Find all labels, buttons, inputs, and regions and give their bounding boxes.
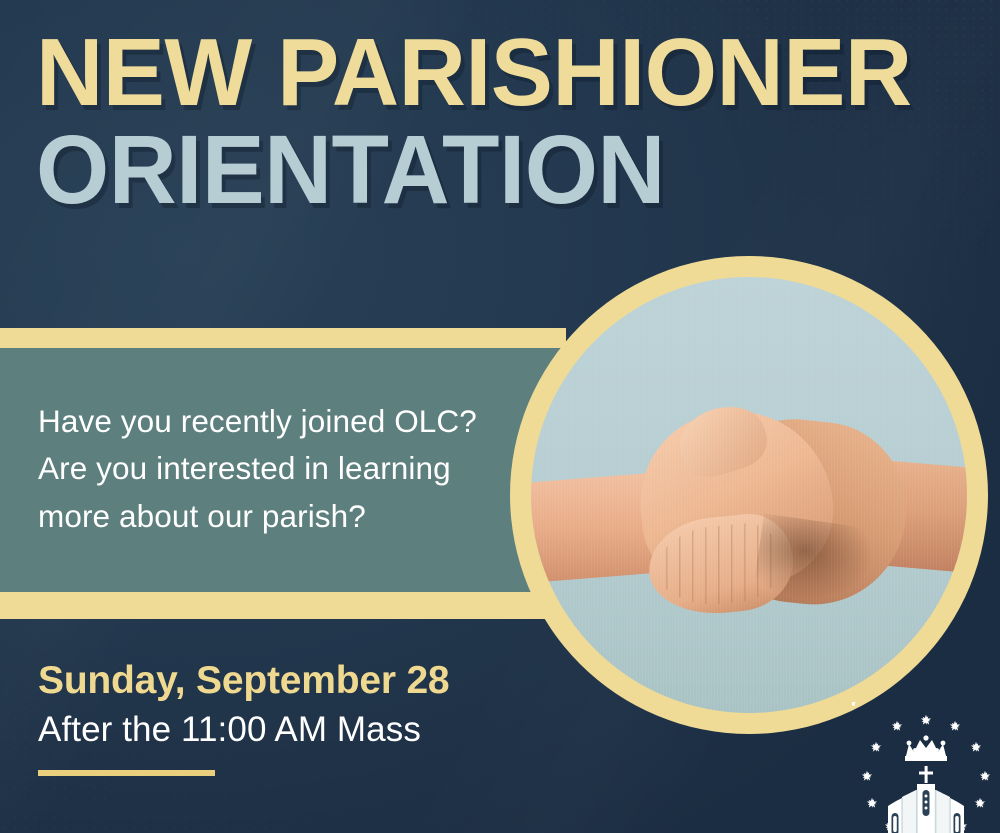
body-text-line-3: more about our parish? <box>38 493 526 540</box>
page-title: NEW PARISHIONER ORIENTATION <box>36 28 976 215</box>
event-details: Sunday, September 28 After the 11:00 AM … <box>38 660 449 776</box>
body-text-line-1: Have you recently joined OLC? <box>38 398 526 445</box>
headline-line-1: NEW PARISHIONER <box>36 28 948 118</box>
body-panel: Have you recently joined OLC? Are you in… <box>0 328 566 619</box>
event-time: After the 11:00 AM Mass <box>38 711 449 750</box>
handshake-photo-circle <box>510 256 988 734</box>
body-text-line-2: Are you interested in learning <box>38 445 526 492</box>
handshake-photo <box>531 277 967 713</box>
panel-bar-top <box>0 328 566 348</box>
poster-canvas: NEW PARISHIONER ORIENTATION Have you rec… <box>0 0 1000 833</box>
panel-body: Have you recently joined OLC? Are you in… <box>0 348 566 592</box>
panel-bar-bottom <box>0 592 566 619</box>
hand-shadow <box>753 514 876 607</box>
event-date: Sunday, September 28 <box>38 660 449 702</box>
handshake-illustration <box>531 277 967 713</box>
church-building-icon <box>888 784 964 833</box>
cross-icon <box>919 766 933 783</box>
crown-icon <box>905 735 947 761</box>
headline-line-2: ORIENTATION <box>36 124 948 215</box>
parish-logo <box>852 702 1000 833</box>
body-text: Have you recently joined OLC? Are you in… <box>0 398 566 540</box>
gold-rule <box>38 770 215 776</box>
